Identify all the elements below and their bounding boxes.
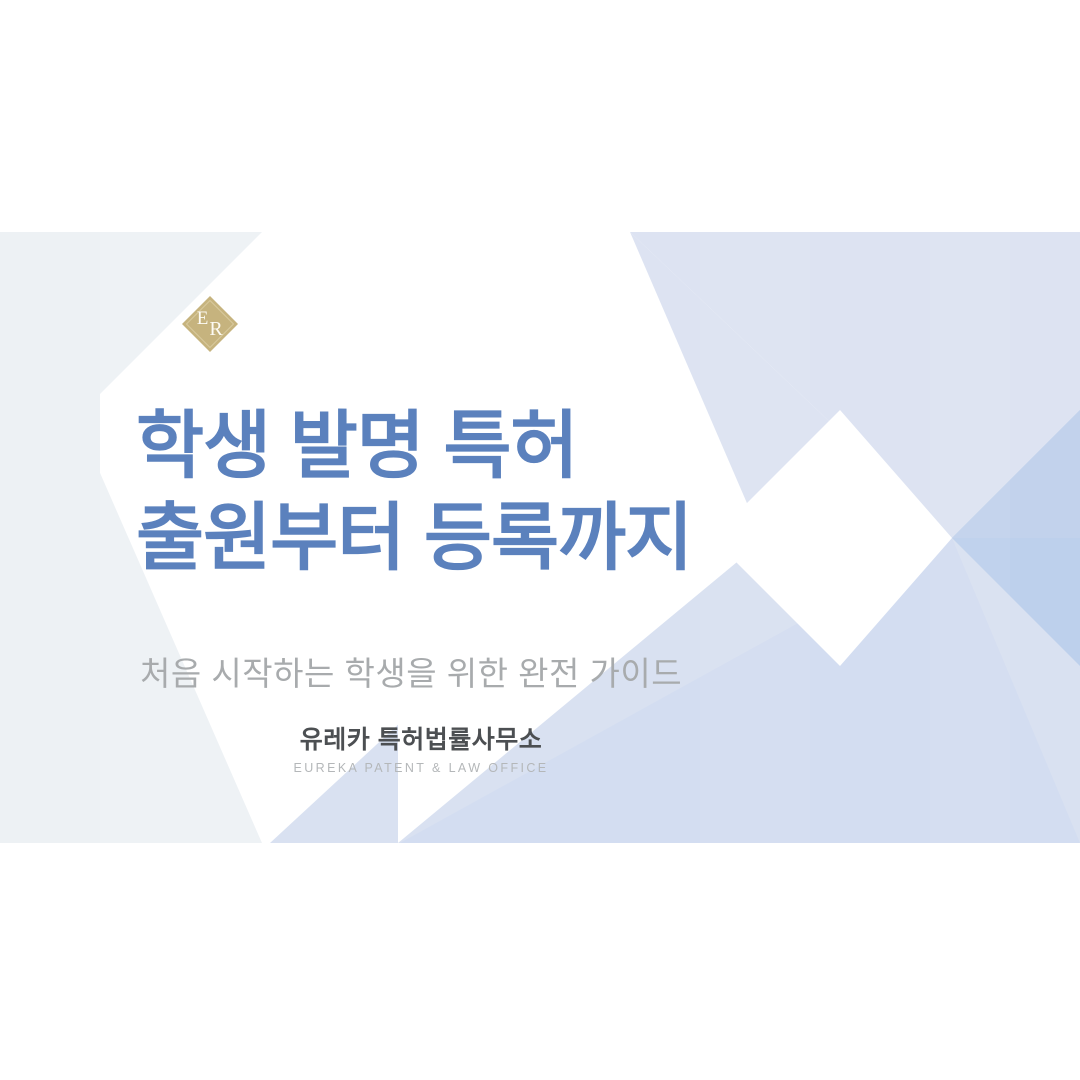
monogram-letter-e: E: [197, 308, 209, 329]
slide-canvas: E R 학생 발명 특허 출원부터 등록까지 처음 시작하는 학생을 위한 완전…: [0, 0, 1080, 1080]
title-slide: E R 학생 발명 특허 출원부터 등록까지 처음 시작하는 학생을 위한 완전…: [0, 232, 1080, 843]
eureka-logo-mark: E R: [180, 294, 240, 354]
page-title: 학생 발명 특허 출원부터 등록까지: [136, 400, 896, 584]
brand-lockup: 유레카 특허법률사무소 EUREKA PATENT & LAW OFFICE: [278, 724, 564, 776]
diamond-icon: E R: [180, 294, 240, 354]
page-subtitle: 처음 시작하는 학생을 위한 완전 가이드: [140, 652, 682, 696]
title-line-1: 학생 발명 특허: [136, 400, 896, 492]
slide-content: E R 학생 발명 특허 출원부터 등록까지 처음 시작하는 학생을 위한 완전…: [0, 232, 1080, 843]
monogram-letter-r: R: [209, 318, 223, 340]
brand-name-english: EUREKA PATENT & LAW OFFICE: [278, 760, 564, 776]
brand-name-korean: 유레카 특허법률사무소: [278, 724, 564, 756]
title-line-2: 출원부터 등록까지: [136, 492, 896, 584]
